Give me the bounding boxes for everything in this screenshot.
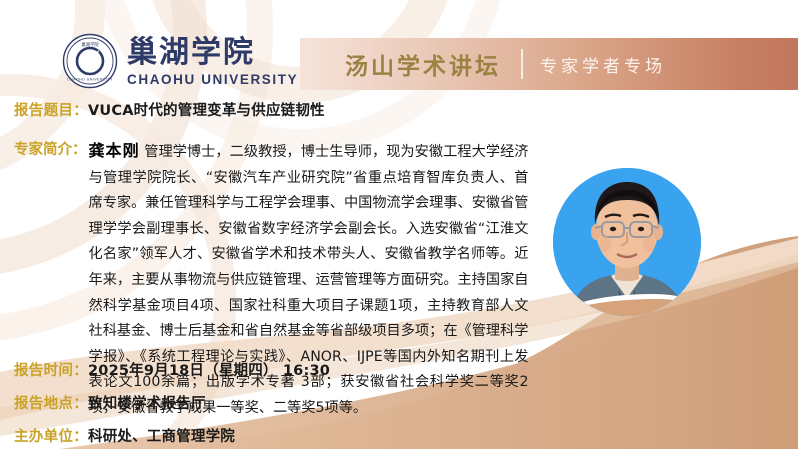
organizer-value: 科研处、工商管理学院 xyxy=(88,425,235,446)
organizer-row: 主办单位： 科研处、工商管理学院 xyxy=(14,425,235,446)
speaker-portrait xyxy=(553,168,701,316)
report-place-label: 报告地点： xyxy=(14,392,88,413)
report-time-value: 2025年9月18日（星期四） 16:30 xyxy=(88,359,330,380)
organizer-label: 主办单位： xyxy=(14,425,88,446)
report-title-row: 报告题目： VUCA时代的管理变革与供应链韧性 xyxy=(14,99,325,120)
report-place-row: 报告地点： 致知楼学术报告厅 xyxy=(14,392,206,413)
poster-canvas: 巢湖学院 CHAOHU UNIVERSITY 巢湖学院 CHAOHU UNIVE… xyxy=(0,0,798,449)
report-time-row: 报告时间： 2025年9月18日（星期四） 16:30 xyxy=(14,359,330,380)
expert-name: 龚本刚 xyxy=(89,141,140,160)
report-title-label: 报告题目： xyxy=(14,99,88,120)
report-place-value: 致知楼学术报告厅 xyxy=(88,392,206,413)
report-title-value: VUCA时代的管理变革与供应链韧性 xyxy=(88,99,325,120)
report-time-label: 报告时间： xyxy=(14,359,88,380)
